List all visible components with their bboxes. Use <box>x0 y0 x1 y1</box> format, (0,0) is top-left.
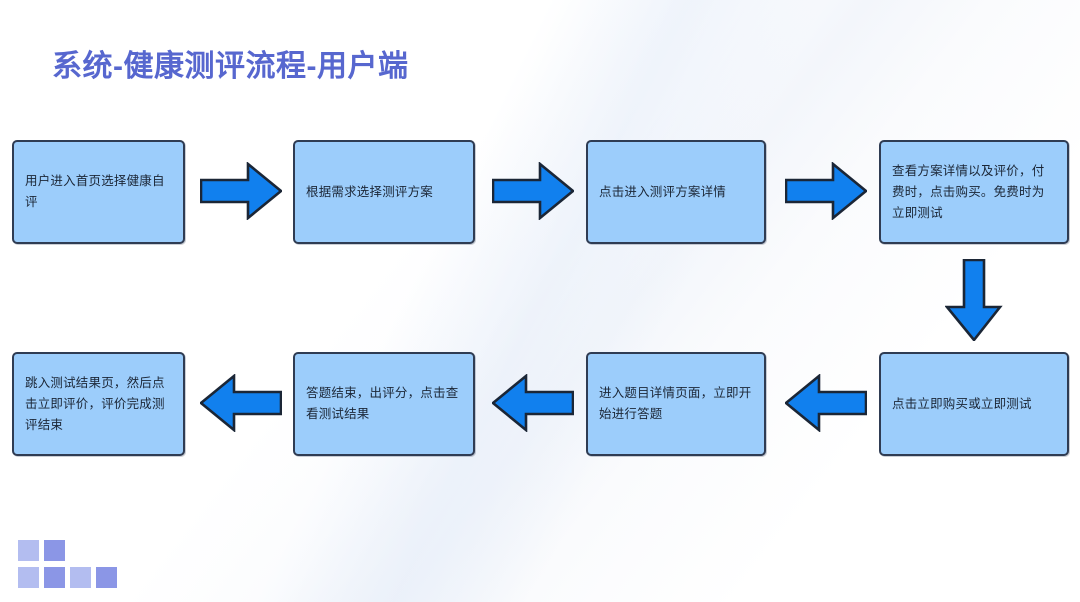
arrow-left-step7-to-step8 <box>200 374 282 432</box>
flow-step-4[interactable]: 查看方案详情以及评价，付费时，点击购买。免费时为立即测试 <box>879 140 1069 244</box>
flow-step-7[interactable]: 答题结束，出评分，点击查看测试结果 <box>293 352 475 456</box>
flow-step-5[interactable]: 点击立即购买或立即测试 <box>879 352 1069 456</box>
arrow-right-step1-to-step2 <box>200 162 282 220</box>
flow-step-3-label: 点击进入测评方案详情 <box>588 182 764 203</box>
flow-step-4-label: 查看方案详情以及评价，付费时，点击购买。免费时为立即测试 <box>881 161 1067 224</box>
flow-step-3[interactable]: 点击进入测评方案详情 <box>586 140 766 244</box>
arrow-left-step6-to-step7 <box>492 374 574 432</box>
flow-step-2[interactable]: 根据需求选择测评方案 <box>293 140 475 244</box>
arrow-right-step2-to-step3 <box>492 162 574 220</box>
decorative-square <box>44 540 65 561</box>
arrow-right-step3-to-step4 <box>785 162 867 220</box>
decorative-square <box>44 567 65 588</box>
arrow-left-step5-to-step6 <box>785 374 867 432</box>
flow-step-1[interactable]: 用户进入首页选择健康自评 <box>12 140 185 244</box>
flow-step-8-label: 跳入测试结果页，然后点击立即评价，评价完成测评结束 <box>14 373 183 436</box>
decorative-square <box>18 567 39 588</box>
decorative-square <box>96 567 117 588</box>
decorative-square <box>70 567 91 588</box>
flow-step-1-label: 用户进入首页选择健康自评 <box>14 171 183 213</box>
page-title: 系统-健康测评流程-用户端 <box>52 41 408 85</box>
flow-step-8[interactable]: 跳入测试结果页，然后点击立即评价，评价完成测评结束 <box>12 352 185 456</box>
flow-step-7-label: 答题结束，出评分，点击查看测试结果 <box>295 383 473 425</box>
flow-step-6[interactable]: 进入题目详情页面，立即开始进行答题 <box>586 352 766 456</box>
flow-step-5-label: 点击立即购买或立即测试 <box>881 394 1067 415</box>
arrow-down-step4-to-step5 <box>945 259 1003 341</box>
decorative-square <box>18 540 39 561</box>
flow-step-6-label: 进入题目详情页面，立即开始进行答题 <box>588 383 764 425</box>
slide-canvas: 系统-健康测评流程-用户端 用户进入首页选择健康自评 根据需求选择测评方案 点击… <box>0 0 1080 602</box>
decorative-squares <box>18 540 114 594</box>
flow-step-2-label: 根据需求选择测评方案 <box>295 182 473 203</box>
